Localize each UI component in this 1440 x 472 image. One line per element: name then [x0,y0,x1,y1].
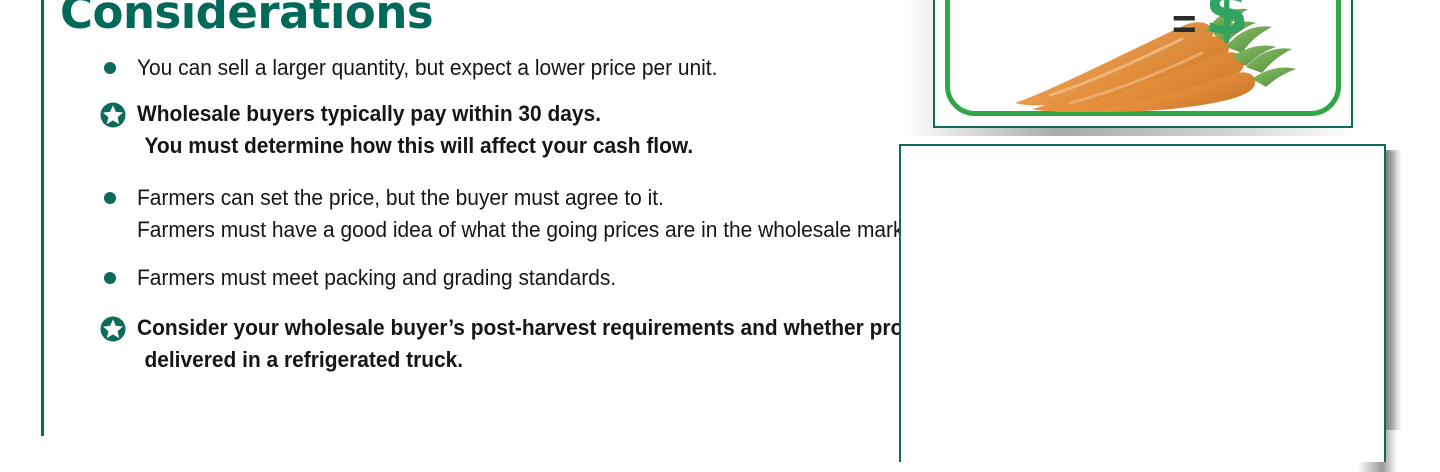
star-bullet-icon [100,98,130,124]
dot-bullet-icon [100,262,130,288]
page-root: Considerations You can sell a larger qua… [0,0,1440,430]
carrots-icon [1010,7,1310,112]
page-title: Considerations [60,0,433,39]
lower-box-frame [899,144,1386,462]
left-vertical-rule [41,0,44,436]
dollar-symbol: $ [1205,0,1248,43]
illustration-green-border: = $ [945,0,1341,116]
equals-symbol: = [1172,3,1197,45]
dot-bullet-icon [100,52,130,78]
lower-box-right-shadow [1386,150,1402,430]
lower-content-box [899,144,1389,464]
illustration-frame: = $ [933,0,1353,128]
star-bullet-icon [100,312,130,338]
dot-bullet-icon [100,182,130,208]
illustration-box: = $ [905,0,1355,130]
